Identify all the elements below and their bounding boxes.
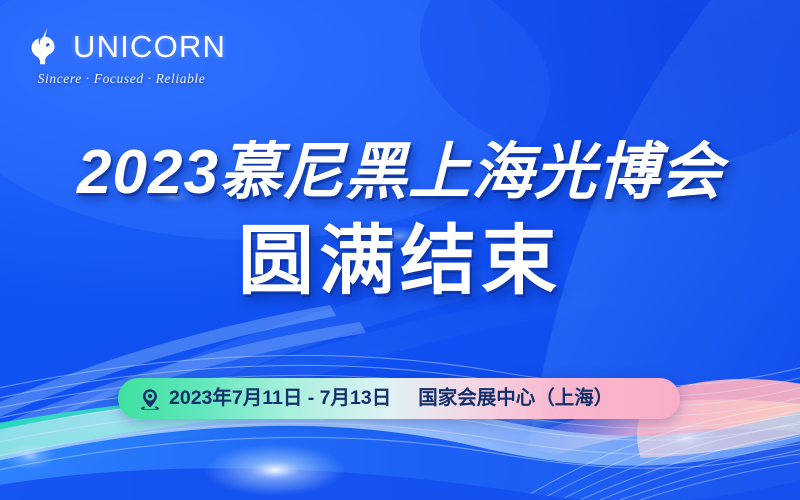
unicorn-head-icon	[24, 26, 66, 66]
location-pin-icon	[140, 388, 160, 410]
event-info-bar: 2023年7月11日 - 7月13日 国家会展中心（上海）	[118, 378, 680, 419]
logo-tagline: Sincere · Focused · Reliable	[24, 71, 219, 87]
logo-wordmark: UNICORN	[73, 31, 226, 62]
page-title: 2023慕尼黑上海光博会	[0, 138, 800, 208]
event-date: 2023年7月11日 - 7月13日	[169, 389, 391, 409]
brand-logo: UNICORN Sincere · Focused · Reliable	[24, 26, 219, 87]
promotional-banner: UNICORN Sincere · Focused · Reliable 202…	[0, 0, 800, 500]
page-subtitle: 圆满结束	[0, 220, 800, 304]
logo-row: UNICORN	[24, 26, 219, 66]
headline-block: 2023慕尼黑上海光博会 圆满结束	[0, 138, 800, 304]
event-venue: 国家会展中心（上海）	[418, 389, 613, 409]
